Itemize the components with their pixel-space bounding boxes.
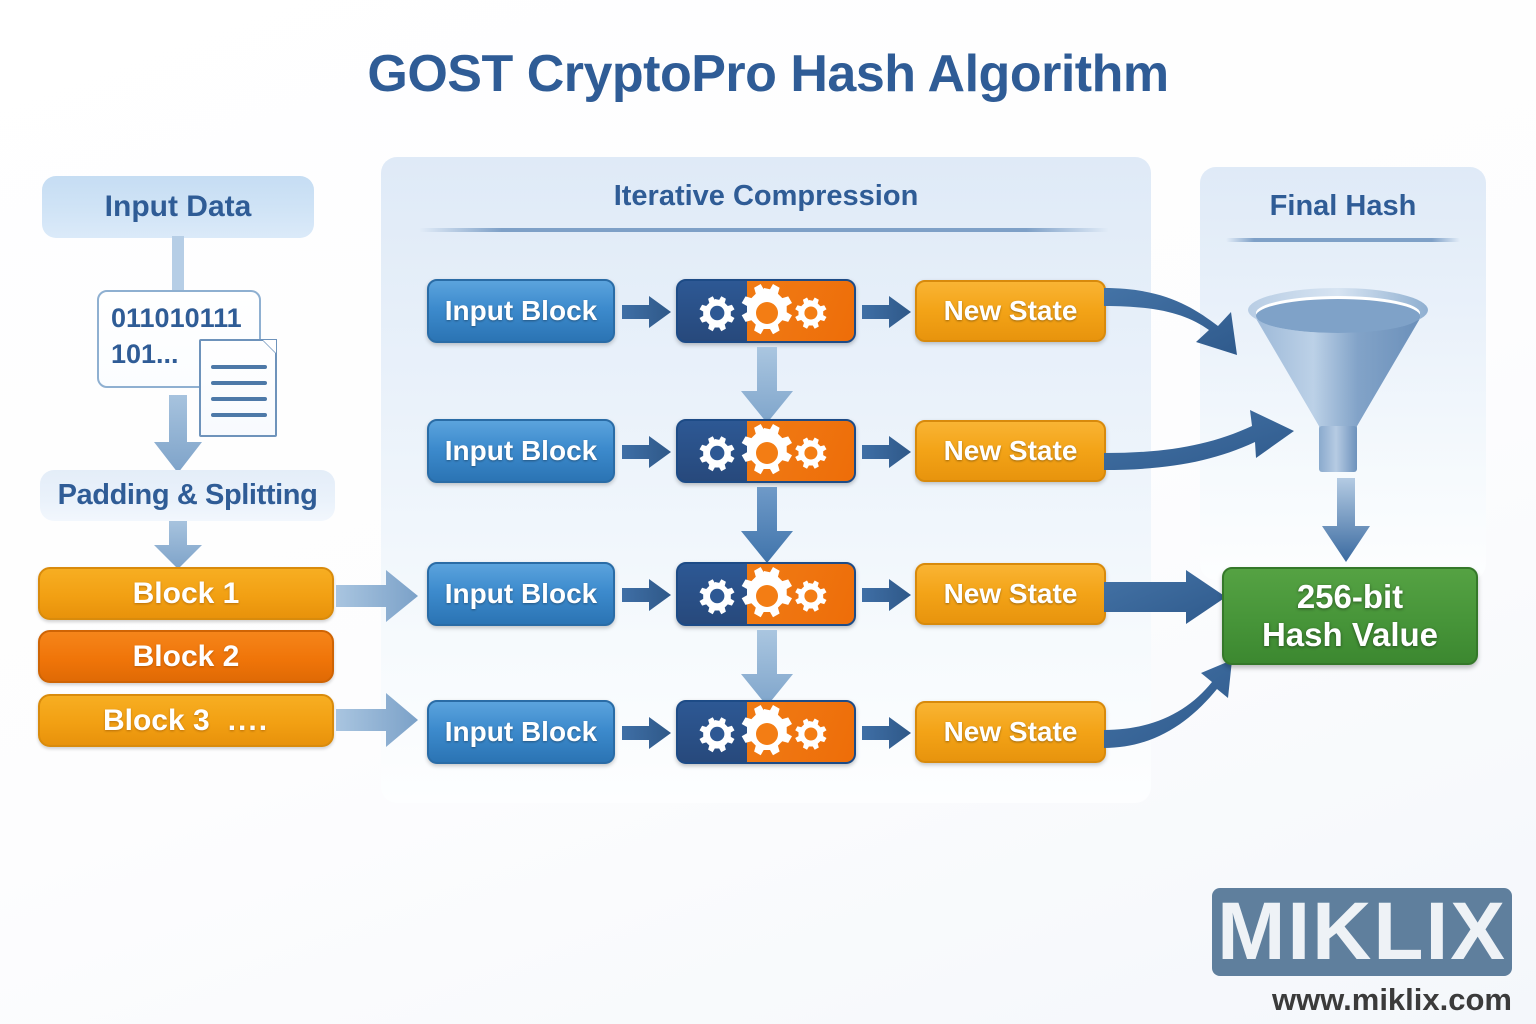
arrow-newstate4-to-result [1104, 660, 1234, 752]
compression-gears-row-3 [676, 562, 856, 626]
arrow-block1-to-row3 [336, 568, 420, 624]
compression-gears-row-2 [676, 419, 856, 483]
compression-gears-row-1 [676, 279, 856, 343]
document-line [211, 381, 267, 385]
hash-value-line-2: Hash Value [1262, 616, 1438, 654]
final-hash-title: Final Hash [1200, 190, 1486, 223]
document-fold-inner-icon [263, 340, 276, 353]
block-chip-3[interactable]: Block 3 .... [38, 694, 334, 747]
input-block-row-3[interactable]: Input Block [427, 562, 615, 626]
arrow-newstate3-to-result [1104, 570, 1229, 632]
document-line [211, 413, 267, 417]
arrow-row2-to-row3 [737, 487, 797, 565]
page-title: GOST CryptoPro Hash Algorithm [0, 44, 1536, 104]
miklix-logo: MIKLIX [1212, 888, 1512, 976]
diagram-canvas: GOST CryptoPro Hash Algorithm Iterative … [0, 0, 1536, 1024]
arrow-gears-to-newstate-2 [862, 436, 912, 468]
iterative-compression-divider [419, 228, 1109, 232]
new-state-label: New State [944, 295, 1078, 327]
document-line [211, 397, 267, 401]
new-state-row-3[interactable]: New State [915, 563, 1106, 625]
arrow-inputblock-to-gears-4 [622, 717, 672, 749]
input-block-label: Input Block [445, 435, 597, 467]
gears-icon [678, 702, 856, 764]
arrow-block3-to-row4 [336, 690, 420, 750]
new-state-label: New State [944, 578, 1078, 610]
connector-inputdata-to-databox [160, 236, 196, 298]
new-state-label: New State [944, 435, 1078, 467]
arrow-row3-to-row4 [737, 630, 797, 708]
padding-splitting-step: Padding & Splitting [40, 470, 335, 521]
arrow-gears-to-newstate-1 [862, 296, 912, 328]
block-chip-ellipsis: .... [228, 704, 269, 738]
arrow-databox-to-padding [150, 395, 206, 475]
arrow-gears-to-newstate-3 [862, 579, 912, 611]
funnel-icon [1243, 278, 1443, 493]
new-state-row-1[interactable]: New State [915, 280, 1106, 342]
arrow-funnel-to-result [1318, 478, 1374, 564]
gears-icon [678, 421, 856, 483]
gears-icon [678, 281, 856, 343]
compression-gears-row-4 [676, 700, 856, 764]
arrow-inputblock-to-gears-1 [622, 296, 672, 328]
miklix-url: www.miklix.com [1100, 982, 1512, 1018]
arrow-row1-to-row2 [737, 347, 797, 425]
arrow-gears-to-newstate-4 [862, 717, 912, 749]
arrow-padding-to-blocks [150, 521, 206, 571]
arrow-inputblock-to-gears-3 [622, 579, 672, 611]
document-icon [199, 339, 277, 437]
arrow-inputblock-to-gears-2 [622, 436, 672, 468]
final-hash-divider [1226, 238, 1460, 242]
miklix-logo-text: MIKLIX [1217, 885, 1507, 979]
input-block-label: Input Block [445, 578, 597, 610]
input-block-label: Input Block [445, 716, 597, 748]
new-state-row-2[interactable]: New State [915, 420, 1106, 482]
input-block-row-4[interactable]: Input Block [427, 700, 615, 764]
new-state-label: New State [944, 716, 1078, 748]
block-chip-label: Block 3 [103, 704, 210, 738]
input-block-label: Input Block [445, 295, 597, 327]
hash-value-result[interactable]: 256-bit Hash Value [1222, 567, 1478, 665]
gears-icon [678, 564, 856, 626]
hash-value-line-1: 256-bit [1297, 578, 1403, 616]
new-state-row-4[interactable]: New State [915, 701, 1106, 763]
block-chip-label: Block 2 [133, 640, 240, 674]
binary-line-1: 011010111 [111, 300, 249, 336]
block-chip-1[interactable]: Block 1 [38, 567, 334, 620]
input-data-header: Input Data [42, 176, 314, 238]
document-line [211, 365, 267, 369]
input-block-row-1[interactable]: Input Block [427, 279, 615, 343]
iterative-compression-title: Iterative Compression [381, 180, 1151, 213]
block-chip-2[interactable]: Block 2 [38, 630, 334, 683]
block-chip-label: Block 1 [133, 577, 240, 611]
input-block-row-2[interactable]: Input Block [427, 419, 615, 483]
arrow-newstate1-to-funnel [1104, 280, 1264, 370]
